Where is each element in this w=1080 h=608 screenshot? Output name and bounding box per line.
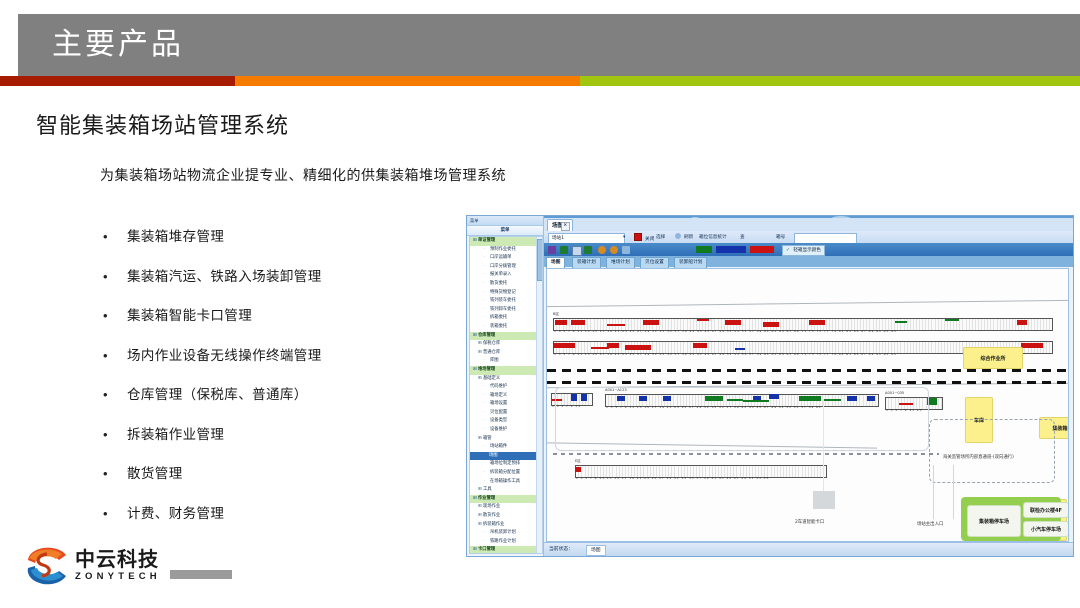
car-parking-lot[interactable]: 小汽车停车场 (1023, 521, 1069, 537)
sidebar-item-8[interactable]: ·铁列卸车委托 (470, 306, 542, 315)
legend-swatch-heavy (696, 246, 712, 253)
colorbar-segment-red (0, 76, 235, 86)
yard-row-label: B区 (553, 312, 559, 317)
list-item: • 集装箱堆存管理 (100, 228, 450, 246)
container-cell[interactable] (725, 320, 741, 325)
sidebar-scrollbar[interactable] (536, 237, 542, 553)
road-vertical (933, 465, 934, 519)
sidebar-header: 菜单 (467, 226, 543, 236)
close-icon (634, 233, 642, 241)
sidebar-item-14[interactable]: ·库图 (470, 357, 542, 366)
main-pane: 场图 × 场站1 ▾ 关闭 选择 刷新 (544, 216, 1073, 556)
perspective-line (547, 300, 1068, 307)
sidebar-item-32[interactable]: ⊞散货作业 (470, 512, 542, 521)
sidebar-item-10[interactable]: ·装箱委托 (470, 323, 542, 332)
sidebar-item-label: 仓库管理 (478, 333, 495, 338)
list-item: • 仓库管理（保税库、普通库） (100, 386, 450, 404)
bullet-marker: • (100, 426, 127, 444)
legend-swatch-danger (750, 246, 774, 253)
sub-tab-bar: 场图 装箱计划 堆场计划 贝位设置 装卸船计划 (544, 256, 1073, 267)
container-cell[interactable] (607, 343, 619, 348)
list-item-label: 集装箱汽运、铁路入场装卸管理 (127, 268, 322, 286)
sidebar-caption: 菜单 (467, 216, 543, 226)
sidebar-item-33[interactable]: ⊞拆装箱作业 (470, 521, 542, 530)
yard-row-numbers: 1 3 5 7 9 11 13 15 17 19 21 23 25 27 29 … (554, 329, 1050, 334)
sidebar-item-label: 箱场定义 (490, 393, 507, 398)
sidebar-item-label: 口岸分拨管理 (490, 264, 516, 269)
refresh-button[interactable]: 刷新 (675, 233, 693, 242)
header-colorbar (0, 76, 1080, 86)
sidebar-item-34[interactable]: ·吊机装卸计划 (470, 529, 542, 538)
legend-color-checkbox[interactable]: ✓ 轻箱显示颜色 (782, 245, 825, 256)
container-cell[interactable] (809, 320, 825, 325)
dropdown-caret-icon[interactable]: ▾ (623, 233, 625, 242)
company-logo: 中云科技 ZONYTECH (26, 546, 232, 586)
list-item-label: 集装箱堆存管理 (127, 228, 224, 246)
sidebar-item-24[interactable]: ·场站箱件 (470, 443, 542, 452)
sidebar-item-label: 箱场设置 (490, 401, 507, 406)
sidebar-item-label: 箱管 (483, 436, 492, 441)
sidebar-item-36[interactable]: ⊞卡口管理 (470, 546, 542, 554)
road-label: 海关监管场所内部直通道-(双向通行) (943, 454, 1014, 460)
gate-structure (813, 491, 835, 509)
logo-name-cn: 中云科技 (75, 550, 161, 570)
sidebar-item-11[interactable]: ⊞仓库管理 (470, 332, 542, 341)
refresh-icon (675, 233, 681, 239)
container-cell[interactable] (555, 320, 567, 325)
container-cell[interactable] (553, 343, 575, 348)
more-button[interactable]: 查 (740, 233, 745, 242)
tab-yard-map-sub[interactable]: 场图 (546, 257, 565, 269)
entrance-label: 场站主出入口 (917, 521, 943, 527)
tab-loading-plan[interactable]: 装箱计划 (572, 257, 601, 269)
close-icon[interactable]: × (561, 222, 570, 231)
building-comprehensive-office[interactable]: 综合作业所 (963, 347, 1023, 369)
container-cell[interactable] (693, 343, 707, 348)
sidebar-item-2[interactable]: ·口岸运输单 (470, 254, 542, 263)
container-cell[interactable] (945, 319, 959, 321)
stats-button-label: 箱位信息统计 (699, 235, 727, 240)
sidebar-item-label: 设备维护 (490, 427, 507, 432)
close-button-label: 关闭 (645, 237, 654, 242)
zoom-in-icon[interactable] (598, 246, 606, 254)
page-title: 主要产品 (52, 22, 184, 68)
sidebar-item-26[interactable]: ·箱场位制定预排 (470, 460, 542, 469)
road-dashed-line (547, 369, 1068, 372)
yard-map-canvas[interactable]: B区 1 3 5 7 9 11 13 15 17 19 21 23 25 27 … (546, 268, 1069, 542)
sidebar-item-13[interactable]: ⊞普通仓库 (470, 349, 542, 358)
sidebar-item-7[interactable]: ·铁列装车委托 (470, 297, 542, 306)
yard-select[interactable]: 场站1 (548, 233, 625, 244)
container-cell[interactable] (895, 321, 907, 323)
joint-inspection-building[interactable]: 联检办公楼4F (1023, 502, 1069, 518)
sidebar-item-label: 卡口管理 (478, 547, 495, 552)
sidebar-item-18[interactable]: ·箱场定义 (470, 392, 542, 401)
sidebar-item-17[interactable]: ·代码维护 (470, 383, 542, 392)
sidebar-item-label: 铁列装车委托 (490, 298, 516, 303)
container-cell[interactable] (763, 322, 779, 327)
list-item-label: 计费、财务管理 (127, 505, 224, 523)
sidebar-item-label: 铁路作业计划 (490, 539, 516, 544)
yard-row-numbers: 1 3 5 7 9 11 13 15 17 19 21 23 25 27 29 … (576, 476, 824, 481)
sidebar-item-22[interactable]: ·设备维护 (470, 426, 542, 435)
control-row: 场站1 ▾ 关闭 选择 刷新 箱位信息统计 查 (544, 231, 1073, 243)
select-button-label: 选择 (656, 235, 665, 240)
bullet-marker: • (100, 465, 127, 483)
sidebar-item-label: 贝位配置 (490, 410, 507, 415)
logo-emblem-icon (26, 546, 68, 586)
sidebar-item-label: 设备类型 (490, 418, 507, 423)
container-cell[interactable] (625, 345, 651, 350)
section-subheading: 为集装箱场站物流企业提专业、精细化的供集装箱堆场管理系统 (100, 165, 506, 185)
sidebar-item-label: 箱场位制定预排 (490, 461, 520, 466)
sidebar-item-4[interactable]: ·报关单录入 (470, 271, 542, 280)
sidebar-item-label: 场图 (489, 453, 498, 458)
sidebar-item-1[interactable]: ·预制作业委托 (470, 246, 542, 255)
sidebar-item-label: 单证管理 (478, 238, 495, 243)
sidebar-item-label: 工具 (483, 487, 492, 492)
gate-label: 2车道智能卡口 (795, 519, 824, 525)
save-icon[interactable] (572, 246, 582, 256)
sidebar-item-label: 吊机装卸计划 (490, 530, 516, 535)
yard-zone-outline (555, 387, 929, 451)
container-parking-lot[interactable]: 集装箱停车场 (967, 505, 1021, 537)
sidebar-tree[interactable]: ⊞单证管理·预制作业委托·口岸运输单·口岸分拨管理·报关单录入·散货委托·特殊货… (469, 236, 543, 554)
container-cell[interactable] (571, 320, 585, 325)
feature-list: • 集装箱堆存管理 • 集装箱汽运、铁路入场装卸管理 • 集装箱智能卡口管理 •… (100, 228, 450, 544)
logo-wordmark: 中云科技 ZONYTECH (75, 550, 161, 583)
slide: 主要产品 智能集装箱场站管理系统 为集装箱场站物流企业提专业、精细化的供集装箱堆… (0, 0, 1080, 608)
bullet-marker: • (100, 386, 127, 404)
container-cell[interactable] (575, 467, 581, 472)
toolbar: ✓ 轻箱显示颜色 (544, 243, 1073, 256)
sidebar-item-3[interactable]: ·口岸分拨管理 (470, 263, 542, 272)
yard-row-label: E区 (575, 459, 581, 464)
fill-icon[interactable] (584, 246, 592, 254)
list-item: • 集装箱智能卡口管理 (100, 307, 450, 325)
bullet-marker: • (100, 228, 127, 246)
container-cell[interactable] (735, 348, 745, 350)
sidebar-item-30[interactable]: ⊞作业管理 (470, 495, 542, 504)
sidebar-item-label: 口岸运输单 (490, 255, 511, 260)
container-cell[interactable] (1017, 320, 1027, 325)
sidebar-item-label: 普通仓库 (483, 350, 500, 355)
container-cell[interactable] (643, 320, 659, 325)
bullet-marker: • (100, 505, 127, 523)
logo-accent-bar (170, 570, 232, 579)
sidebar-item-label: 拆装箱分配位置 (490, 470, 520, 475)
container-cell[interactable] (607, 324, 625, 326)
sidebar-item-label: 拆箱委托 (490, 315, 507, 320)
sidebar-item-label: 特殊货物登记 (490, 290, 516, 295)
list-item-label: 集装箱智能卡口管理 (127, 307, 252, 325)
sidebar: 菜单 菜单 ⊞单证管理·预制作业委托·口岸运输单·口岸分拨管理·报关单录入·散货… (467, 216, 544, 556)
sidebar-item-label: 预制作业委托 (490, 247, 516, 252)
colorbar-segment-orange (235, 76, 580, 86)
sidebar-item-label: 堆场管理 (478, 367, 495, 372)
sidebar-item-label: 装箱委托 (490, 324, 507, 329)
sidebar-item-label: 散货作业 (483, 513, 500, 518)
sidebar-item-28[interactable]: ·在场箱操作工具 (470, 478, 542, 487)
sidebar-item-16[interactable]: ⊞基础定义 (470, 375, 542, 384)
application-screenshot: 菜单 菜单 ⊞单证管理·预制作业委托·口岸运输单·口岸分拨管理·报关单录入·散货… (466, 215, 1074, 557)
checkbox-check-icon: ✓ (786, 248, 790, 253)
list-item: • 散货管理 (100, 465, 450, 483)
road-dashed-line (553, 453, 939, 455)
sidebar-item-35[interactable]: ·铁路作业计划 (470, 538, 542, 547)
road-vertical (823, 399, 824, 491)
road-vertical (953, 465, 954, 519)
section-heading: 智能集装箱场站管理系统 (36, 108, 289, 140)
select-button[interactable]: 选择 (656, 233, 665, 242)
sidebar-item-label: 铁列卸车委托 (490, 307, 516, 312)
list-item: • 集装箱汽运、铁路入场装卸管理 (100, 268, 450, 286)
sidebar-item-29[interactable]: ⊞工具 (470, 486, 542, 495)
legend-color-checkbox-label: 轻箱显示颜色 (793, 248, 821, 253)
sidebar-item-6[interactable]: ·特殊货物登记 (470, 289, 542, 298)
sidebar-item-27[interactable]: ·拆装箱分配位置 (470, 469, 542, 478)
sidebar-item-label: 在场箱操作工具 (490, 479, 520, 484)
sidebar-item-5[interactable]: ·散货委托 (470, 280, 542, 289)
yard-zone-outline (929, 419, 1055, 483)
bullet-marker: • (100, 307, 127, 325)
rect-icon[interactable] (560, 246, 568, 254)
list-item-label: 散货管理 (127, 465, 183, 483)
status-bar: 当前状态： 场图 (544, 542, 1073, 556)
sidebar-item-15[interactable]: ⊞堆场管理 (470, 366, 542, 375)
sidebar-item-label: 拆装箱作业 (483, 522, 504, 527)
container-cell[interactable] (697, 319, 709, 321)
legend-swatch-empty (716, 246, 746, 253)
tab-bar: 场图 × (544, 218, 1073, 231)
tab-vessel-plan[interactable]: 装卸船计划 (674, 257, 707, 269)
list-item-label: 场内作业设备无线操作终端管理 (127, 347, 322, 365)
status-value: 场图 (586, 545, 606, 556)
tab-yard-plan[interactable]: 堆场计划 (606, 257, 635, 269)
colorbar-segment-green (580, 76, 1080, 86)
zoom-out-icon[interactable] (610, 246, 618, 254)
close-button[interactable]: 关闭 (634, 233, 654, 242)
bullet-marker: • (100, 347, 127, 365)
list-item-label: 拆装箱作业管理 (127, 426, 224, 444)
sidebar-item-label: 代码维护 (490, 384, 507, 389)
sidebar-item-0[interactable]: ⊞单证管理 (470, 237, 542, 246)
refresh-button-label: 刷新 (684, 235, 693, 240)
yard-select-value: 场站1 (552, 236, 564, 241)
bullet-marker: • (100, 268, 127, 286)
pin-icon[interactable] (548, 246, 556, 254)
sidebar-item-21[interactable]: ·设备类型 (470, 417, 542, 426)
box-number-label: 箱号 (776, 233, 785, 242)
sidebar-item-label: 现场作业 (483, 504, 500, 509)
logo-name-en: ZONYTECH (75, 571, 161, 583)
list-item: • 计费、财务管理 (100, 505, 450, 523)
scrollbar-thumb[interactable] (537, 239, 543, 281)
sidebar-item-label: 报关单录入 (490, 272, 511, 277)
sidebar-item-label: 作业管理 (478, 496, 495, 501)
sidebar-item-31[interactable]: ⊞现场作业 (470, 503, 542, 512)
list-item-label: 仓库管理（保税库、普通库） (127, 386, 308, 404)
sidebar-item-label: 库图 (490, 358, 499, 363)
list-item: • 场内作业设备无线操作终端管理 (100, 347, 450, 365)
sidebar-item-20[interactable]: ·贝位配置 (470, 409, 542, 418)
container-cell[interactable] (1021, 343, 1043, 348)
sidebar-item-label: 场站箱件 (490, 444, 507, 449)
status-label: 当前状态： (549, 546, 573, 554)
sidebar-item-23[interactable]: ⊞箱管 (470, 435, 542, 444)
tab-bay-config[interactable]: 贝位设置 (640, 257, 669, 269)
sidebar-item-label: 保税仓库 (483, 341, 500, 346)
more-button-label: 查 (740, 235, 745, 240)
sidebar-item-label: 基础定义 (483, 376, 500, 381)
sidebar-item-19[interactable]: ·箱场设置 (470, 400, 542, 409)
list-item: • 拆装箱作业管理 (100, 426, 450, 444)
sidebar-item-12[interactable]: ⊞保税仓库 (470, 340, 542, 349)
road-dashed-line (547, 381, 1068, 384)
box-number-input[interactable] (794, 233, 857, 244)
sidebar-item-9[interactable]: ·拆箱委托 (470, 314, 542, 323)
pan-icon[interactable] (622, 246, 630, 254)
sidebar-item-label: 散货委托 (490, 281, 507, 286)
sidebar-item-25[interactable]: ⊞场图 (470, 452, 542, 461)
stats-button[interactable]: 箱位信息统计 (699, 233, 727, 242)
